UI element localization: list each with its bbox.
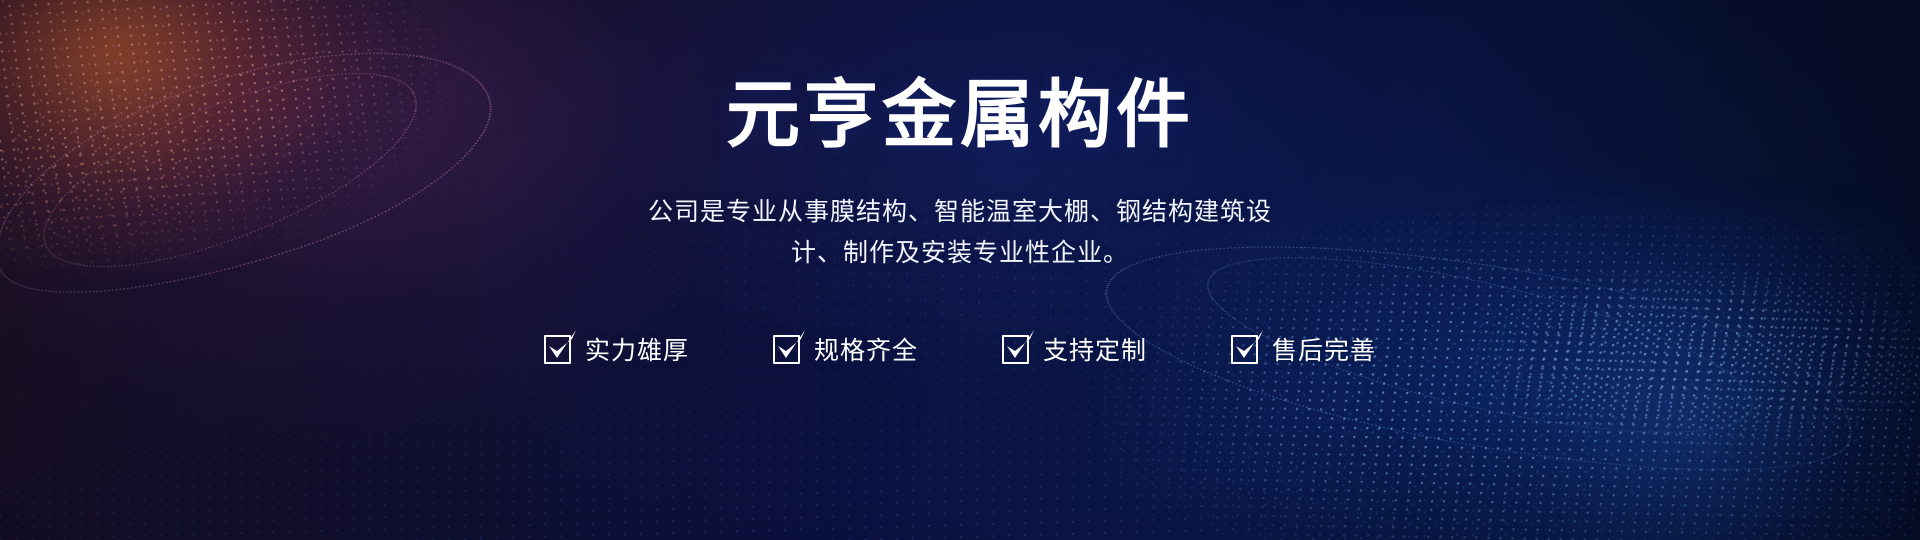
checkbox-checked-icon (544, 333, 574, 365)
feature-item-after-sales[interactable]: 售后完善 (1231, 331, 1376, 367)
checkbox-checked-icon (1002, 333, 1032, 365)
banner-subtitle: 公司是专业从事膜结构、智能温室大棚、钢结构建筑设 计、制作及安装专业性企业。 (648, 192, 1272, 275)
banner-subtitle-line-2: 计、制作及安装专业性企业。 (648, 233, 1272, 274)
feature-item-strength[interactable]: 实力雄厚 (544, 331, 689, 367)
banner-content: 元亨金属构件 公司是专业从事膜结构、智能温室大棚、钢结构建筑设 计、制作及安装专… (0, 0, 1920, 540)
feature-list: 实力雄厚 规格齐全 支持定制 (544, 331, 1376, 367)
checkbox-checked-icon (1231, 333, 1261, 365)
feature-label: 规格齐全 (814, 331, 918, 367)
feature-item-customization[interactable]: 支持定制 (1002, 331, 1147, 367)
feature-label: 支持定制 (1043, 331, 1147, 367)
banner-subtitle-line-1: 公司是专业从事膜结构、智能温室大棚、钢结构建筑设 (648, 192, 1272, 233)
banner-title: 元亨金属构件 (726, 78, 1194, 152)
feature-item-specifications[interactable]: 规格齐全 (773, 331, 918, 367)
feature-label: 售后完善 (1272, 331, 1376, 367)
feature-label: 实力雄厚 (585, 331, 689, 367)
hero-banner: 元亨金属构件 公司是专业从事膜结构、智能温室大棚、钢结构建筑设 计、制作及安装专… (0, 0, 1920, 540)
checkbox-checked-icon (773, 333, 803, 365)
